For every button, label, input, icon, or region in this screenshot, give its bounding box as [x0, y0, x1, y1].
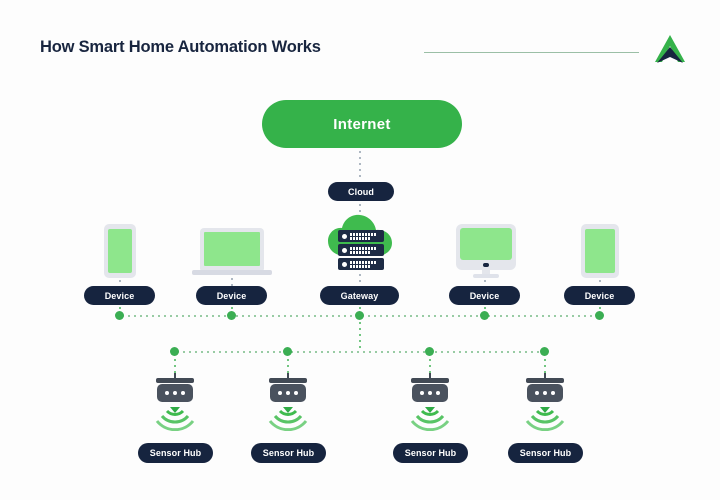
connector-bus-to-hub2 [287, 357, 289, 373]
node-label-device-1[interactable]: Device [84, 286, 155, 305]
node-label-gateway[interactable]: Gateway [320, 286, 399, 305]
connector-bus-to-hub1 [174, 357, 176, 373]
connector-bus-to-hub3 [429, 357, 431, 373]
hub-label-3[interactable]: Sensor Hub [393, 443, 468, 463]
router-wifi-icon-2 [261, 373, 315, 431]
sensor-hub-bus-line [175, 351, 545, 353]
connector-device4-icon-label [484, 278, 486, 286]
page-title: How Smart Home Automation Works [40, 38, 321, 57]
bus-node-device-1 [115, 311, 124, 320]
bus-node-hub-3 [425, 347, 434, 356]
node-label-device-4[interactable]: Device [449, 286, 520, 305]
gateway-cloud-server-icon [326, 212, 394, 274]
hub-label-4[interactable]: Sensor Hub [508, 443, 583, 463]
node-label-device-5[interactable]: Device [564, 286, 635, 305]
smartphone-icon [104, 224, 136, 278]
connector-device1-icon-label [119, 278, 121, 286]
server-rack-2 [338, 244, 384, 256]
connector-gateway-trunk [359, 320, 361, 352]
router-wifi-icon-4 [518, 373, 572, 431]
bus-node-device-5 [595, 311, 604, 320]
rack-led [342, 248, 347, 253]
internet-node[interactable]: Internet [262, 100, 462, 148]
hub-label-2[interactable]: Sensor Hub [251, 443, 326, 463]
title-divider [424, 52, 639, 53]
hub-label-1[interactable]: Sensor Hub [138, 443, 213, 463]
server-rack-1 [338, 230, 384, 242]
bus-node-device-4 [480, 311, 489, 320]
rack-led [342, 234, 347, 239]
node-label-device-2[interactable]: Device [196, 286, 267, 305]
rack-grid [350, 261, 378, 268]
tablet-icon [581, 224, 619, 278]
monitor-icon [456, 224, 516, 278]
infographic-canvas: How Smart Home Automation Works Internet… [0, 0, 720, 500]
server-rack-3 [338, 258, 384, 270]
connector-bus-to-hub4 [544, 357, 546, 373]
header: How Smart Home Automation Works [0, 0, 720, 90]
bus-node-device-2 [227, 311, 236, 320]
rack-led [342, 262, 347, 267]
rack-grid [350, 247, 378, 254]
bus-node-gateway [355, 311, 364, 320]
bus-node-hub-4 [540, 347, 549, 356]
router-wifi-icon-1 [148, 373, 202, 431]
connector-device2-icon-label [231, 276, 233, 286]
connector-gateway-icon-to-label [359, 272, 361, 286]
connector-device5-icon-label [599, 278, 601, 286]
cloud-label[interactable]: Cloud [328, 182, 394, 201]
laptop-icon [192, 228, 272, 276]
bus-node-hub-1 [170, 347, 179, 356]
bus-node-hub-2 [283, 347, 292, 356]
rack-grid [350, 233, 378, 240]
connector-internet-to-cloud [359, 149, 361, 181]
router-wifi-icon-3 [403, 373, 457, 431]
brand-arrow-logo [652, 33, 688, 65]
